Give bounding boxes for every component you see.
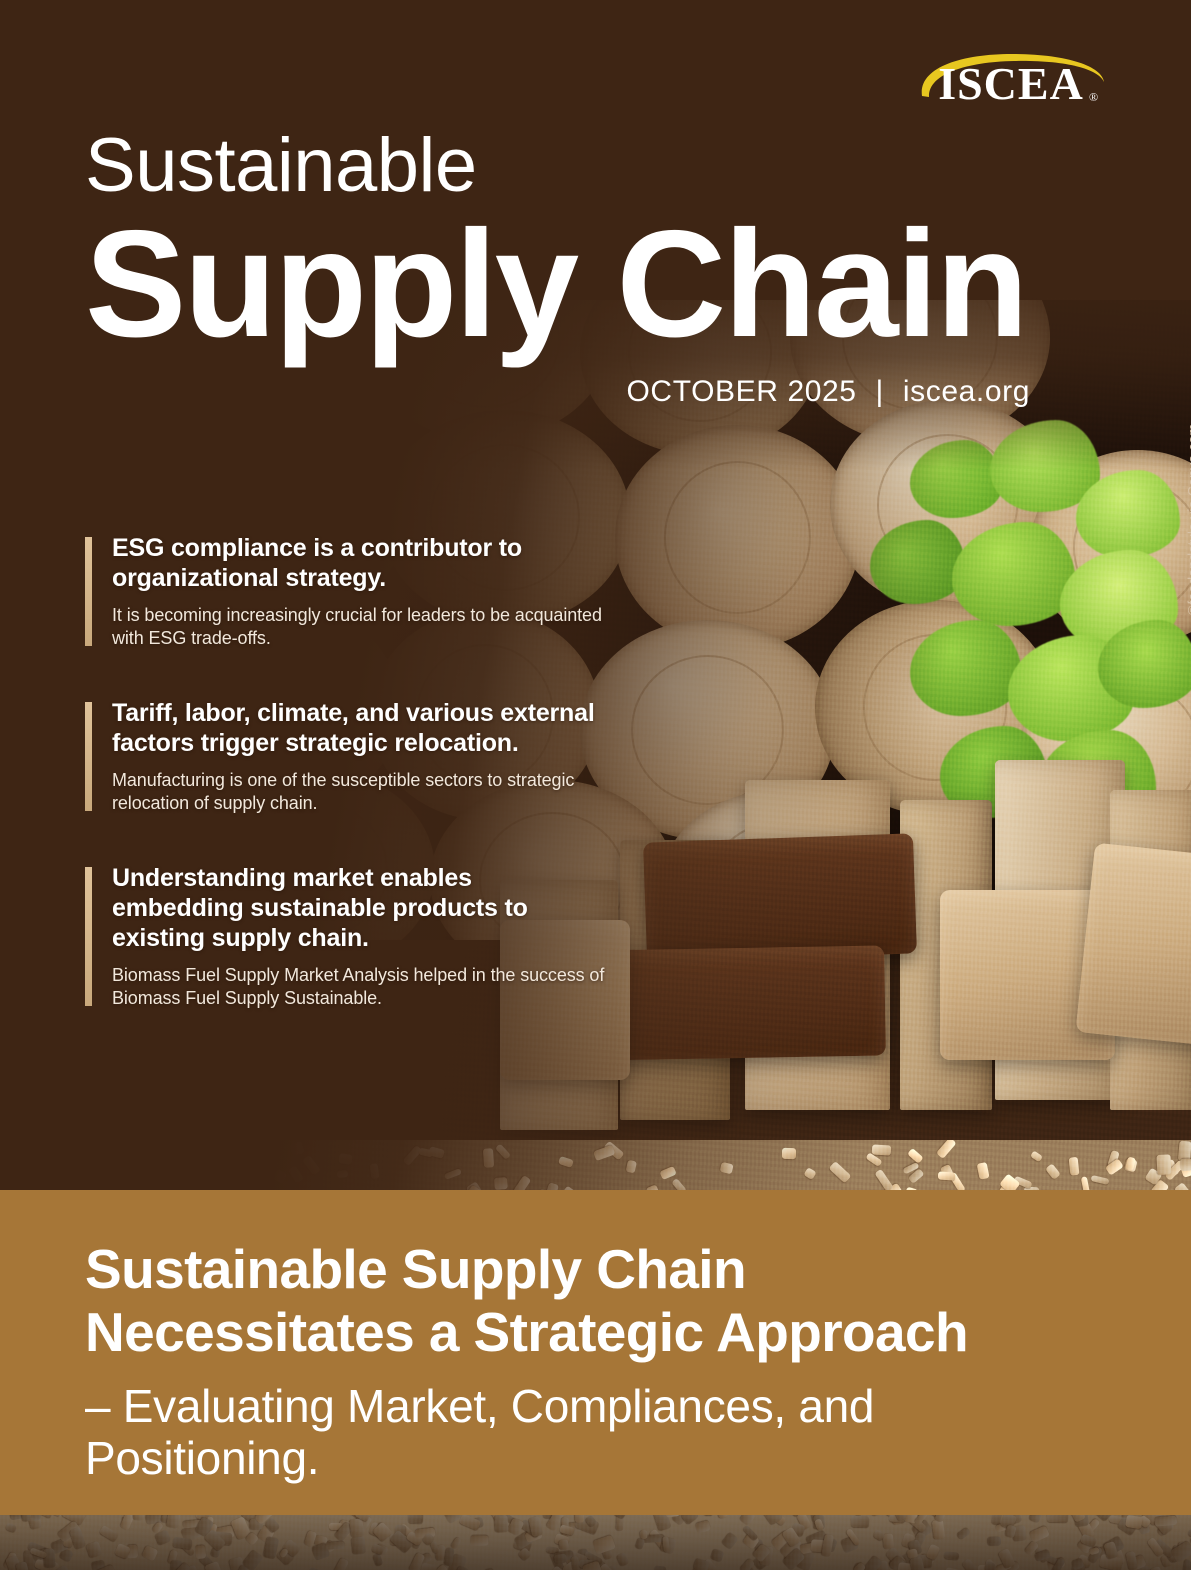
magazine-cover: ISCEA ® Sustainable Supply Chain OCTOBER… bbox=[0, 0, 1191, 1570]
highlight-body: Manufacturing is one of the susceptible … bbox=[112, 769, 605, 815]
svg-text:ISCEA: ISCEA bbox=[938, 58, 1084, 109]
feature-banner: Sustainable Supply Chain Necessitates a … bbox=[0, 1190, 1191, 1515]
photo-credit: ©foodandstyle via Canva.com bbox=[1185, 424, 1191, 616]
feature-subtitle: – Evaluating Market, Compliances, and Po… bbox=[85, 1381, 1115, 1484]
accent-bar bbox=[85, 867, 92, 1006]
highlight-body: Biomass Fuel Supply Market Analysis help… bbox=[112, 964, 605, 1010]
accent-bar bbox=[85, 702, 92, 811]
highlight-body: It is becoming increasingly crucial for … bbox=[112, 604, 605, 650]
highlight-item: Understanding market enables embedding s… bbox=[85, 863, 605, 1010]
issue-line: OCTOBER 2025 | iscea.org bbox=[85, 375, 1030, 409]
highlight-heading: ESG compliance is a contributor to organ… bbox=[112, 533, 605, 593]
website-link[interactable]: iscea.org bbox=[903, 375, 1030, 408]
highlight-heading: Understanding market enables embedding s… bbox=[112, 863, 605, 953]
highlights-list: ESG compliance is a contributor to organ… bbox=[85, 533, 605, 1058]
accent-bar bbox=[85, 537, 92, 646]
masthead: Sustainable Supply Chain OCTOBER 2025 | … bbox=[85, 128, 1045, 409]
feature-headline-line2: Necessitates a Strategic Approach bbox=[85, 1301, 1115, 1364]
masthead-kicker: Sustainable bbox=[85, 128, 1045, 204]
issue-date: OCTOBER 2025 bbox=[627, 375, 857, 408]
masthead-title: Supply Chain bbox=[85, 210, 1045, 359]
iscea-logo[interactable]: ISCEA ® bbox=[916, 52, 1106, 114]
issue-separator: | bbox=[866, 375, 894, 408]
highlight-item: ESG compliance is a contributor to organ… bbox=[85, 533, 605, 650]
highlight-heading: Tariff, labor, climate, and various exte… bbox=[112, 698, 605, 758]
svg-text:®: ® bbox=[1089, 90, 1098, 104]
highlight-item: Tariff, labor, climate, and various exte… bbox=[85, 698, 605, 815]
feature-headline-line1: Sustainable Supply Chain bbox=[85, 1238, 1115, 1301]
